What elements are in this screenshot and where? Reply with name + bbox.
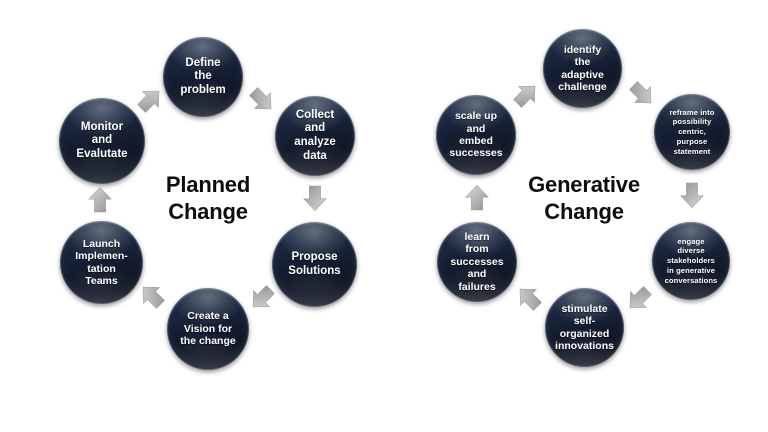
node-collect-and-analyze-data[interactable]: Collect and analyze data xyxy=(275,96,355,176)
cycle-title-generative-change: Generative Change xyxy=(502,172,666,226)
arrow-learn-to-scale-icon xyxy=(462,183,492,213)
arrow-stimulate-to-learn-icon xyxy=(508,277,550,319)
node-label: identify the adaptive challenge xyxy=(552,44,612,94)
node-identify-the-adaptive-challenge[interactable]: identify the adaptive challenge xyxy=(543,29,622,108)
arrow-define-to-collect-icon xyxy=(241,79,283,121)
arrow-reframe-to-engage-icon xyxy=(677,180,707,210)
arrow-engage-to-stimulate-icon xyxy=(618,278,660,320)
node-label: Collect and analyze data xyxy=(288,109,342,163)
node-label: Launch Implemen- tation Teams xyxy=(69,238,134,288)
node-label: learn from successes and failures xyxy=(444,231,509,293)
node-stimulate-self-organized-innovations[interactable]: stimulate self- organized innovations xyxy=(545,288,624,367)
cycle-generative-change: identify the adaptive challenge reframe … xyxy=(384,0,768,432)
node-scale-up-and-embed-successes[interactable]: scale up and embed successes xyxy=(436,95,516,175)
node-label: Propose Solutions xyxy=(282,251,346,278)
cycle-planned-change: Define the problem Collect and analyze d… xyxy=(0,0,384,432)
arrow-launch-to-monitor-icon xyxy=(85,185,115,215)
node-label: Monitor and Evalutate xyxy=(70,121,133,162)
node-launch-implementation-teams[interactable]: Launch Implemen- tation Teams xyxy=(60,221,143,304)
node-label: stimulate self- organized innovations xyxy=(549,303,620,353)
node-label: scale up and embed successes xyxy=(443,110,508,160)
cycle-title-planned-change: Planned Change xyxy=(132,172,284,226)
arrow-scale-to-identify-icon xyxy=(505,74,547,116)
node-label: Create a Vision for the change xyxy=(174,310,241,347)
node-learn-from-successes-and-failures[interactable]: learn from successes and failures xyxy=(437,222,517,302)
node-create-a-vision[interactable]: Create a Vision for the change xyxy=(167,288,249,370)
node-label: Define the problem xyxy=(174,57,231,98)
node-label: engage diverse stakeholders in generativ… xyxy=(659,237,724,286)
node-engage-diverse-stakeholders[interactable]: engage diverse stakeholders in generativ… xyxy=(652,222,730,300)
node-label: reframe into possibility centric, purpos… xyxy=(663,108,720,157)
node-propose-solutions[interactable]: Propose Solutions xyxy=(272,222,357,307)
arrow-collect-to-propose-icon xyxy=(300,183,330,213)
diagram-canvas: Define the problem Collect and analyze d… xyxy=(0,0,768,432)
node-reframe-into-possibility[interactable]: reframe into possibility centric, purpos… xyxy=(654,94,730,170)
arrow-identify-to-reframe-icon xyxy=(621,73,663,115)
node-define-the-problem[interactable]: Define the problem xyxy=(163,37,243,117)
